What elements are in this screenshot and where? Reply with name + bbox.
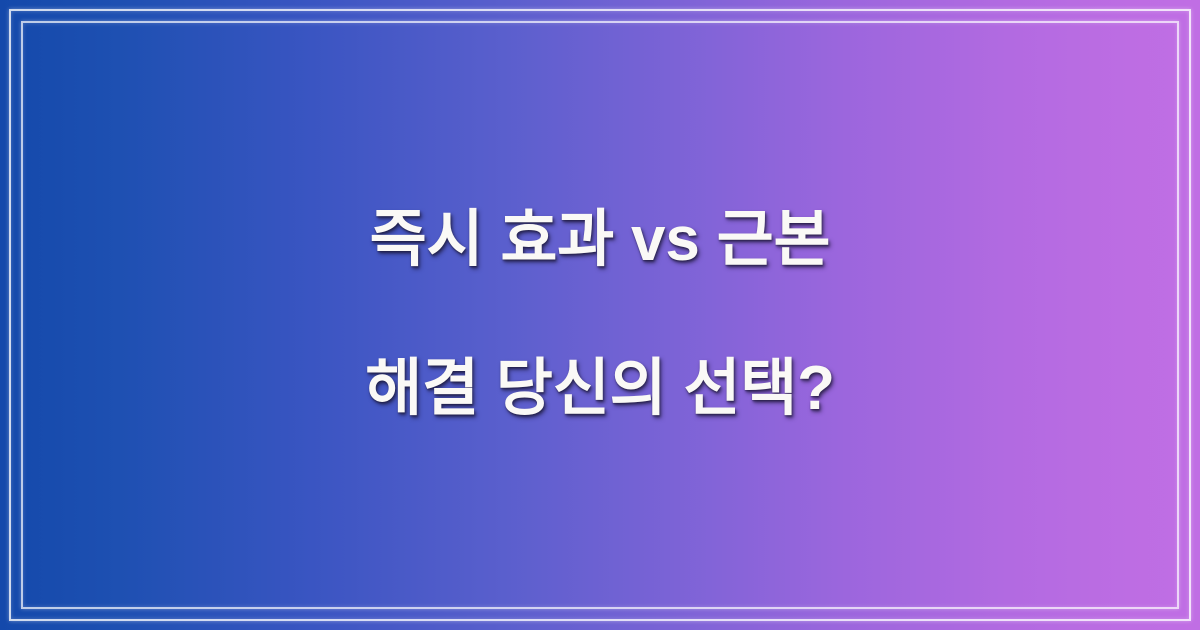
- banner-headline: 즉시 효과 vs 근본 해결 당신의 선택?: [365, 129, 835, 501]
- share-card-banner: 즉시 효과 vs 근본 해결 당신의 선택?: [0, 0, 1200, 630]
- headline-container: 즉시 효과 vs 근본 해결 당신의 선택?: [0, 0, 1200, 630]
- headline-line-2: 해결 당신의 선택?: [365, 352, 835, 426]
- headline-line-1: 즉시 효과 vs 근본: [365, 203, 835, 277]
